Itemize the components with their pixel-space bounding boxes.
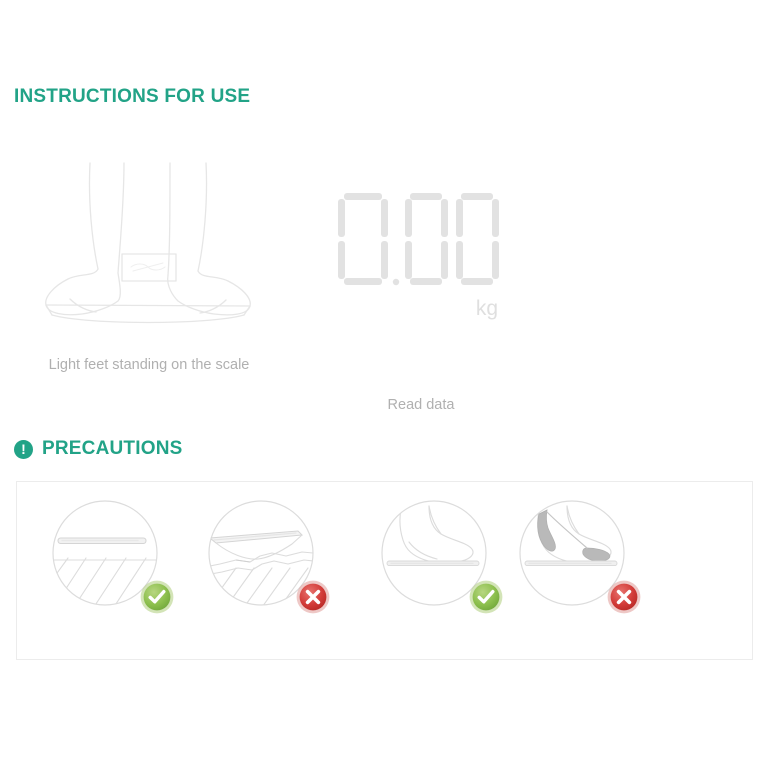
exclamation-circle-icon: ! xyxy=(14,440,33,459)
check-circle-icon xyxy=(469,580,503,614)
instruction-step-1: Light feet standing on the scale xyxy=(18,155,280,374)
lcd-unit-label: kg xyxy=(476,297,498,321)
lcd-readout: kg xyxy=(336,187,506,317)
check-circle-icon xyxy=(140,580,174,614)
precaution-item-3 xyxy=(379,498,501,620)
precaution-item-2 xyxy=(206,498,328,620)
instructions-page: INSTRUCTIONS FOR USE xyxy=(0,0,768,768)
precaution-item-1 xyxy=(50,498,172,620)
seven-segment-digits xyxy=(336,187,506,302)
instructions-steps-row: Light feet standing on the scale xyxy=(0,155,768,385)
precautions-panel xyxy=(16,481,753,660)
cross-circle-icon xyxy=(607,580,641,614)
precaution-item-4 xyxy=(517,498,639,620)
section-heading-precautions: ! PRECAUTIONS xyxy=(14,438,183,460)
section-title-instructions: INSTRUCTIONS FOR USE xyxy=(14,86,250,108)
instruction-step-1-caption: Light feet standing on the scale xyxy=(18,357,280,374)
cross-circle-icon xyxy=(296,580,330,614)
lcd-display-illustration: kg xyxy=(310,187,532,367)
section-heading-instructions: INSTRUCTIONS FOR USE xyxy=(14,86,250,108)
instruction-step-2-caption: Read data xyxy=(310,397,532,414)
instruction-step-2: kg Read data xyxy=(310,155,532,414)
precautions-item-list xyxy=(17,482,752,659)
legs-standing-on-scale-illustration xyxy=(18,155,280,335)
section-title-precautions: PRECAUTIONS xyxy=(42,438,183,460)
exclamation-glyph: ! xyxy=(21,442,26,456)
